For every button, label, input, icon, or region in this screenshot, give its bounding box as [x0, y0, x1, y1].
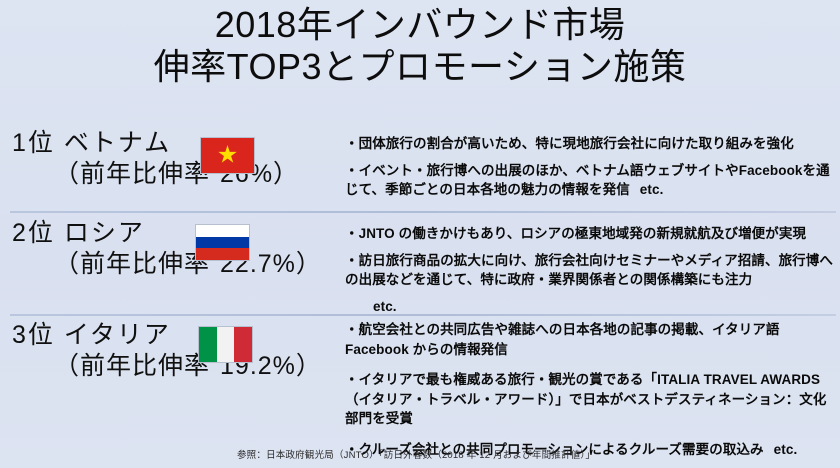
rank-2-growth-label: （前年比伸率 — [54, 250, 210, 278]
rank-row-3: 3位 イタリア （前年比伸率19.2%） ・航空会社との共同広告や雑誌への日本各… — [0, 320, 840, 438]
bullet-text: ・イタリアで最も権威ある旅行・観光の賞である「ITALIA TRAVEL AWA… — [345, 372, 827, 426]
bullet-item: ・訪日旅行商品の拡大に向け、旅行会社向けセミナーやメディア招請、旅行博への出展な… — [345, 251, 834, 290]
bullet-text: ・団体旅行の割合が高いため、特に現地旅行会社に向けた取り組みを強化 — [345, 136, 794, 151]
flag-stripe-green — [199, 327, 217, 362]
bullet-item: ・JNTO の働きかけもあり、ロシアの極東地域発の新規就航及び増便が実現 — [345, 224, 834, 244]
bullet-item: ・団体旅行の割合が高いため、特に現地旅行会社に向けた取り組みを強化 — [345, 134, 834, 154]
rank-2-bullets: ・JNTO の働きかけもあり、ロシアの極東地域発の新規就航及び増便が実現 ・訪日… — [345, 218, 840, 316]
bullet-text: ・イベント・旅行博への出展のほか、ベトナム語ウェブサイトやFacebookを通じ… — [345, 163, 830, 198]
rank-3-growth-label: （前年比伸率 — [54, 352, 210, 380]
rank-3-left-column: 3位 イタリア （前年比伸率19.2%） — [0, 320, 345, 381]
row-divider — [10, 211, 836, 213]
row-divider — [10, 314, 836, 316]
russia-flag-icon — [195, 224, 250, 261]
rank-1-left-column: 1位 ベトナム （前年比伸率26%） ★ — [0, 128, 345, 189]
title-line-1: 2018年インバウンド市場 — [0, 4, 840, 46]
rank-1-growth: （前年比伸率26%） — [12, 159, 345, 190]
bullet-etc: etc. — [640, 182, 664, 197]
flag-band-white — [196, 225, 249, 237]
bullet-text: ・JNTO の働きかけもあり、ロシアの極東地域発の新規就航及び増便が実現 — [345, 226, 806, 241]
rank-row-1: 1位 ベトナム （前年比伸率26%） ★ ・団体旅行の割合が高いため、特に現地旅… — [0, 128, 840, 208]
source-footnote: 参照：日本政府観光局（JNTO）「訪日外客数（2018 年 12 月および年間推… — [0, 447, 840, 461]
bullet-text: ・訪日旅行商品の拡大に向け、旅行会社向けセミナーやメディア招請、旅行博への出展な… — [345, 253, 833, 288]
vietnam-flag-icon: ★ — [200, 137, 255, 174]
flag-stripe-red — [234, 327, 252, 362]
flag-star-icon: ★ — [217, 143, 239, 167]
rank-3-bullets: ・航空会社との共同広告や雑誌への日本各地の記事の掲載、イタリア語Facebook… — [345, 320, 840, 468]
bullet-text: ・航空会社との共同広告や雑誌への日本各地の記事の掲載、イタリア語Facebook… — [345, 322, 780, 357]
rank-3-growth: （前年比伸率19.2%） — [12, 351, 345, 382]
italy-flag-icon — [198, 326, 253, 363]
rank-2-left-column: 2位 ロシア （前年比伸率22.7%） — [0, 218, 345, 279]
rank-2-country: 2位 ロシア — [12, 218, 345, 249]
slide-canvas: 2018年インバウンド市場 伸率TOP3とプロモーション施策 1位 ベトナム （… — [0, 0, 840, 468]
rank-3-country: 3位 イタリア — [12, 320, 345, 351]
bullet-item: ・イベント・旅行博への出展のほか、ベトナム語ウェブサイトやFacebookを通じ… — [345, 161, 834, 200]
rank-1-growth-label: （前年比伸率 — [54, 160, 210, 188]
rank-1-country: 1位 ベトナム — [12, 128, 345, 159]
rank-row-2: 2位 ロシア （前年比伸率22.7%） ・JNTO の働きかけもあり、ロシアの極… — [0, 218, 840, 310]
rank-2-growth: （前年比伸率22.7%） — [12, 249, 345, 280]
flag-band-blue — [196, 237, 249, 249]
flag-band-red — [196, 248, 249, 260]
page-title: 2018年インバウンド市場 伸率TOP3とプロモーション施策 — [0, 4, 840, 89]
flag-stripe-white — [217, 327, 235, 362]
rank-1-bullets: ・団体旅行の割合が高いため、特に現地旅行会社に向けた取り組みを強化 ・イベント・… — [345, 128, 840, 200]
title-line-2: 伸率TOP3とプロモーション施策 — [0, 46, 840, 88]
bullet-item: ・航空会社との共同広告や雑誌への日本各地の記事の掲載、イタリア語Facebook… — [345, 320, 834, 359]
bullet-item: ・イタリアで最も権威ある旅行・観光の賞である「ITALIA TRAVEL AWA… — [345, 370, 834, 429]
